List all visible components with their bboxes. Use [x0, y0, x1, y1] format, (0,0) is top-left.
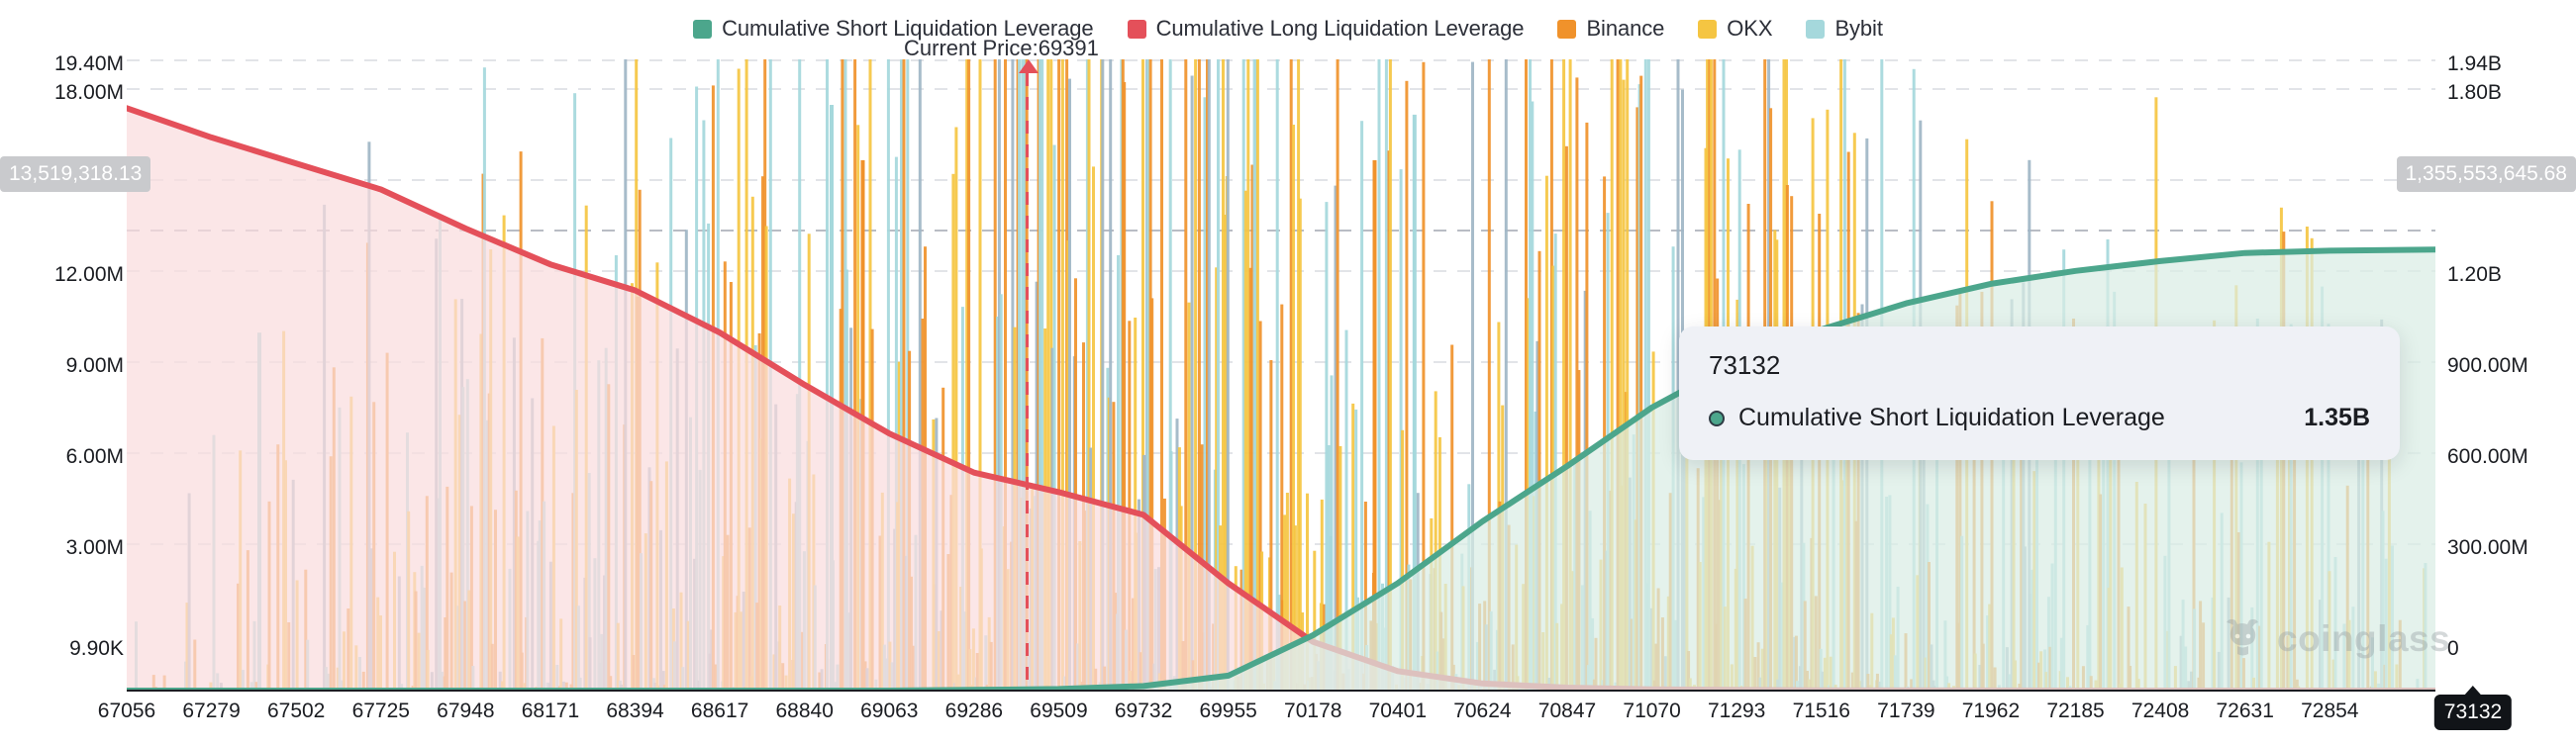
- legend-swatch-cumulative-short: [693, 20, 712, 39]
- y-right-tick-900m: 900.00M: [2447, 355, 2528, 376]
- x-axis-tick-70624: 70624: [1453, 700, 1511, 721]
- x-axis-tick-72185: 72185: [2046, 700, 2104, 721]
- x-axis-tick-68171: 68171: [522, 700, 579, 721]
- y-left-tick-6-00m: 6.00M: [66, 446, 124, 467]
- y-left-tick-3-00m: 3.00M: [66, 537, 124, 558]
- legend-swatch-cumulative-long: [1128, 20, 1146, 39]
- x-axis-tick-68394: 68394: [606, 700, 663, 721]
- y-left-highlight-badge: 13,519,318.13: [0, 156, 150, 192]
- legend-swatch-okx: [1698, 20, 1717, 39]
- chart-tooltip: 73132 Cumulative Short Liquidation Lever…: [1679, 326, 2400, 460]
- x-axis-tick-70178: 70178: [1284, 700, 1341, 721]
- legend-item-bybit[interactable]: Bybit: [1806, 16, 1882, 42]
- x-axis-tick-72854: 72854: [2301, 700, 2358, 721]
- legend-label-bybit: Bybit: [1834, 16, 1882, 42]
- x-axis-tick-72408: 72408: [2131, 700, 2189, 721]
- y-right-tick-1-94b: 1.94B: [2447, 53, 2502, 74]
- x-axis-tick-71070: 71070: [1623, 700, 1680, 721]
- liquidation-heatmap-chart: Cumulative Short Liquidation Leverage Cu…: [0, 0, 2576, 746]
- x-axis-tick-69063: 69063: [860, 700, 918, 721]
- x-axis-tick-71516: 71516: [1793, 700, 1850, 721]
- chart-legend: Cumulative Short Liquidation Leverage Cu…: [0, 16, 2576, 42]
- x-axis-tick-67279: 67279: [182, 700, 240, 721]
- x-axis-tick-67948: 67948: [437, 700, 494, 721]
- tooltip-series-label: Cumulative Short Liquidation Leverage: [1738, 404, 2290, 432]
- legend-item-binance[interactable]: Binance: [1557, 16, 1664, 42]
- x-cursor-badge: 73132: [2434, 695, 2512, 730]
- y-right-highlight-badge: 1,355,553,645.68: [2397, 156, 2576, 192]
- x-axis-tick-72631: 72631: [2217, 700, 2274, 721]
- y-right-tick-1-80b: 1.80B: [2447, 82, 2502, 103]
- x-axis-tick-69509: 69509: [1030, 700, 1087, 721]
- legend-swatch-bybit: [1806, 20, 1825, 39]
- legend-label-cumulative-short: Cumulative Short Liquidation Leverage: [722, 16, 1093, 42]
- legend-label-cumulative-long: Cumulative Long Liquidation Leverage: [1156, 16, 1525, 42]
- x-axis-tick-69955: 69955: [1199, 700, 1256, 721]
- y-right-tick-600m: 600.00M: [2447, 446, 2528, 467]
- legend-swatch-binance: [1557, 20, 1576, 39]
- y-left-tick-9-90k: 9.90K: [69, 638, 124, 659]
- tooltip-title: 73132: [1709, 352, 2370, 378]
- legend-item-cumulative-short[interactable]: Cumulative Short Liquidation Leverage: [693, 16, 1093, 42]
- x-axis-tick-67725: 67725: [352, 700, 410, 721]
- x-axis-tick-68840: 68840: [776, 700, 834, 721]
- tooltip-series-value: 1.35B: [2304, 404, 2370, 432]
- x-axis-tick-71962: 71962: [1962, 700, 2020, 721]
- tooltip-series-row: Cumulative Short Liquidation Leverage 1.…: [1709, 404, 2370, 432]
- x-axis-tick-71739: 71739: [1877, 700, 1934, 721]
- y-right-tick-1-20b: 1.20B: [2447, 264, 2502, 285]
- legend-item-okx[interactable]: OKX: [1698, 16, 1772, 42]
- y-right-tick-300m: 300.00M: [2447, 537, 2528, 558]
- x-axis-tick-70401: 70401: [1369, 700, 1427, 721]
- y-left-tick-18-00m: 18.00M: [54, 82, 124, 103]
- x-axis-tick-71293: 71293: [1708, 700, 1765, 721]
- current-price-arrow-icon: [1019, 59, 1039, 73]
- y-left-tick-9-00m: 9.00M: [66, 355, 124, 376]
- legend-label-binance: Binance: [1586, 16, 1664, 42]
- x-axis-tick-67056: 67056: [98, 700, 155, 721]
- range-slider-track[interactable]: [127, 731, 2435, 746]
- y-left-tick-12-00m: 12.00M: [54, 264, 124, 285]
- tooltip-series-dot-icon: [1709, 411, 1725, 426]
- y-right-tick-0: 0: [2447, 638, 2459, 659]
- x-axis-tick-69732: 69732: [1115, 700, 1172, 721]
- legend-item-cumulative-long[interactable]: Cumulative Long Liquidation Leverage: [1128, 16, 1525, 42]
- y-left-tick-19-40m: 19.40M: [54, 53, 124, 74]
- legend-label-okx: OKX: [1727, 16, 1772, 42]
- x-axis-tick-67502: 67502: [267, 700, 325, 721]
- x-axis-tick-68617: 68617: [691, 700, 748, 721]
- current-price-dashed-line: [1026, 73, 1029, 691]
- x-axis-tick-69286: 69286: [945, 700, 1003, 721]
- x-axis-baseline: [127, 690, 2435, 692]
- x-axis-tick-70847: 70847: [1538, 700, 1596, 721]
